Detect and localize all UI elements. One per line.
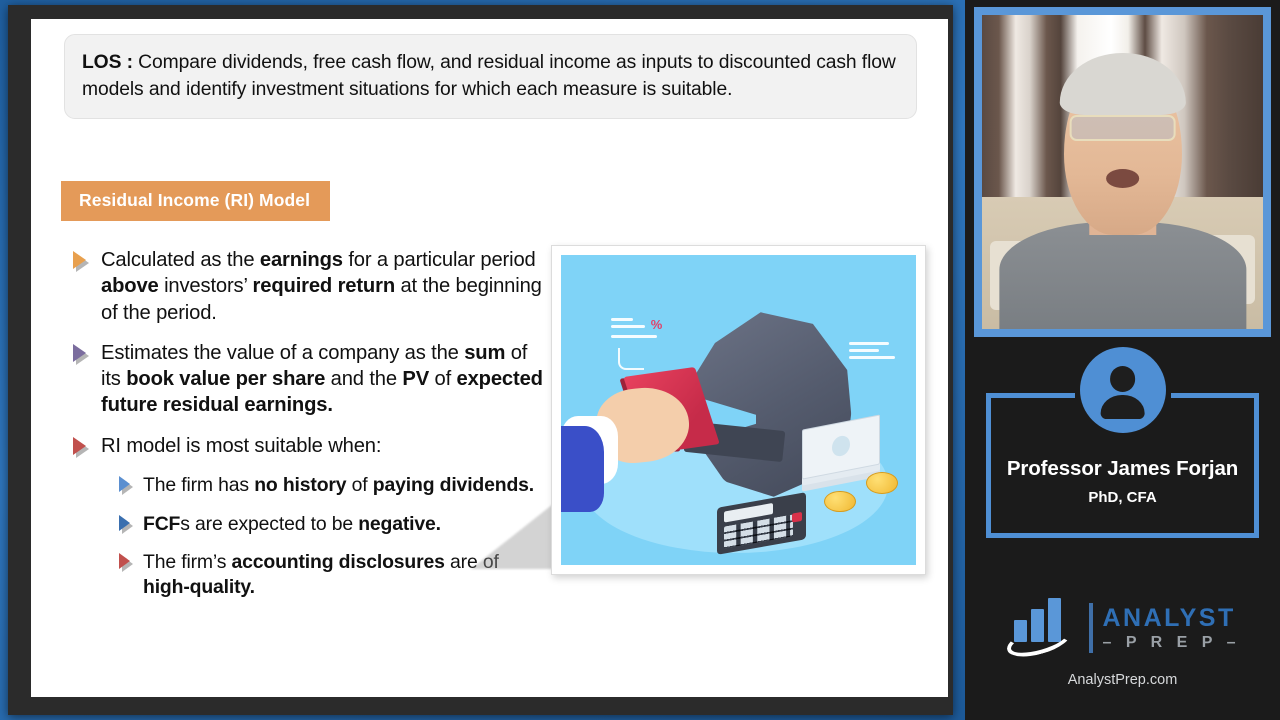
coin-icon [866,472,898,494]
percent-tag-icon: % [611,317,663,342]
coin-icon [824,491,856,513]
section-banner-wrap: Residual Income (RI) Model [61,181,330,221]
triangle-bullet-icon [73,251,95,273]
presenter-name: Professor James Forjan [974,457,1271,481]
bullet-text: RI model is most suitable when: [101,433,381,459]
presenter-name-card: Professor James Forjan PhD, CFA [974,345,1271,550]
section-banner: Residual Income (RI) Model [61,181,330,221]
webcam-video[interactable] [982,15,1263,329]
percent-symbol: % [651,317,663,332]
illustration-frame: % [551,245,926,575]
info-tag-icon [849,342,895,363]
slide-stage: LOS : Compare dividends, free cash flow,… [0,0,965,720]
webcam-frame[interactable] [974,7,1271,337]
branding-area: ANALYST – P R E P – AnalystPrep.com [965,600,1280,720]
los-callout-box: LOS : Compare dividends, free cash flow,… [64,34,917,119]
bar-chart-logo-icon [1004,600,1080,656]
sub-bullet-text: FCFs are expected to be negative. [143,512,441,537]
triangle-bullet-icon [73,344,95,366]
website-url: AnalystPrep.com [965,672,1280,688]
glasses-icon [1069,115,1176,140]
slide-frame: LOS : Compare dividends, free cash flow,… [8,5,953,715]
logo-divider [1089,603,1093,653]
bullet-item: RI model is most suitable when: [73,433,543,459]
bullet-item: Calculated as the earnings for a particu… [73,247,543,326]
triangle-bullet-icon [119,553,137,571]
logo-primary-text: ANALYST [1102,606,1240,631]
triangle-bullet-icon [73,437,95,459]
los-label: LOS : [82,52,133,73]
bullet-text: Estimates the value of a company as the … [101,340,543,419]
presenter-panel: Professor James Forjan PhD, CFA ANALYST … [965,0,1280,720]
los-text: LOS : Compare dividends, free cash flow,… [82,49,899,103]
bullet-text: Calculated as the earnings for a particu… [101,247,543,326]
triangle-bullet-icon [119,476,137,494]
los-body: Compare dividends, free cash flow, and r… [82,52,896,100]
bullet-item: Estimates the value of a company as the … [73,340,543,419]
presenter-credentials: PhD, CFA [974,489,1271,506]
slide-canvas: LOS : Compare dividends, free cash flow,… [31,19,948,697]
triangle-bullet-icon [119,515,137,533]
pie-chart-illustration: % [561,255,916,565]
presentation-screen: LOS : Compare dividends, free cash flow,… [0,0,1280,720]
logo-secondary-text: – P R E P – [1102,635,1240,651]
person-icon [1080,347,1166,433]
